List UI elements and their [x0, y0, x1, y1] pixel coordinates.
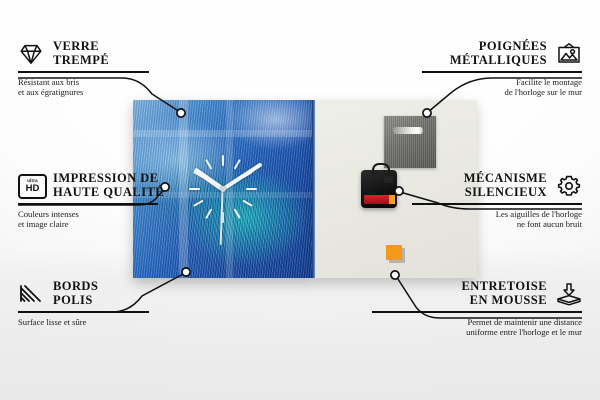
ultra-hd-badge-icon: ultra HD [18, 174, 44, 198]
picture-frame-hanger-icon [556, 42, 582, 66]
feature-title: VERRE TREMPÉ [53, 40, 109, 67]
feature-poignees-metalliques: POIGNÉES MÉTALLIQUES Facilite le montage… [422, 40, 582, 98]
mechanism-chip [384, 176, 393, 183]
feature-description: Couleurs intenses et image claire [18, 209, 188, 230]
metal-hanger-plate [384, 116, 436, 168]
foam-spacer [386, 245, 402, 260]
clock-center-cap [220, 186, 226, 192]
feature-impression-haute-qualite: ultra HD IMPRESSION DE HAUTE QUALITÉ Cou… [18, 172, 188, 230]
feature-description: Les aiguilles de l'horloge ne font aucun… [412, 209, 582, 230]
gear-icon [556, 174, 582, 198]
feature-description: Permet de maintenir une distance uniform… [372, 317, 582, 338]
feature-title: POIGNÉES MÉTALLIQUES [450, 40, 547, 67]
glass-edge [312, 100, 315, 278]
feature-title: BORDS POLIS [53, 280, 98, 307]
feature-divider [18, 71, 149, 73]
polished-edges-icon [18, 282, 44, 306]
hanger-keyhole-slot [393, 127, 423, 134]
feature-description: Facilite le montage de l'horloge sur le … [422, 77, 582, 98]
foam-spacer-arrow-icon [556, 282, 582, 306]
mechanism-hanging-loop [372, 163, 390, 175]
feature-divider [412, 203, 582, 205]
feature-mecanisme-silencieux: MÉCANISME SILENCIEUX Les aiguilles de l'… [412, 172, 582, 230]
feature-description: Surface lisse et sûre [18, 317, 178, 328]
feature-entretoise-en-mousse: ENTRETOISE EN MOUSSE Permet de maintenir… [372, 280, 582, 338]
clock-tick-mark [189, 188, 200, 190]
clock-mechanism [361, 170, 397, 208]
feature-title: MÉCANISME SILENCIEUX [464, 172, 547, 199]
feature-bords-polis: BORDS POLIS Surface lisse et sûre [18, 280, 178, 327]
feature-divider [18, 311, 149, 313]
feature-title: ENTRETOISE EN MOUSSE [461, 280, 547, 307]
feature-verre-trempe: VERRE TREMPÉ Résistant aux bris et aux é… [18, 40, 178, 98]
ultra-hd-bottom-label: HD [26, 184, 40, 194]
feature-title: IMPRESSION DE HAUTE QUALITÉ [53, 172, 164, 199]
battery-terminal [389, 195, 395, 204]
feature-description: Résistant aux bris et aux égratignures [18, 77, 178, 98]
infographic-canvas: VERRE TREMPÉ Résistant aux bris et aux é… [0, 0, 600, 400]
feature-divider [372, 311, 582, 313]
feature-divider [18, 203, 158, 205]
diamond-icon [18, 42, 44, 66]
feature-divider [422, 71, 582, 73]
